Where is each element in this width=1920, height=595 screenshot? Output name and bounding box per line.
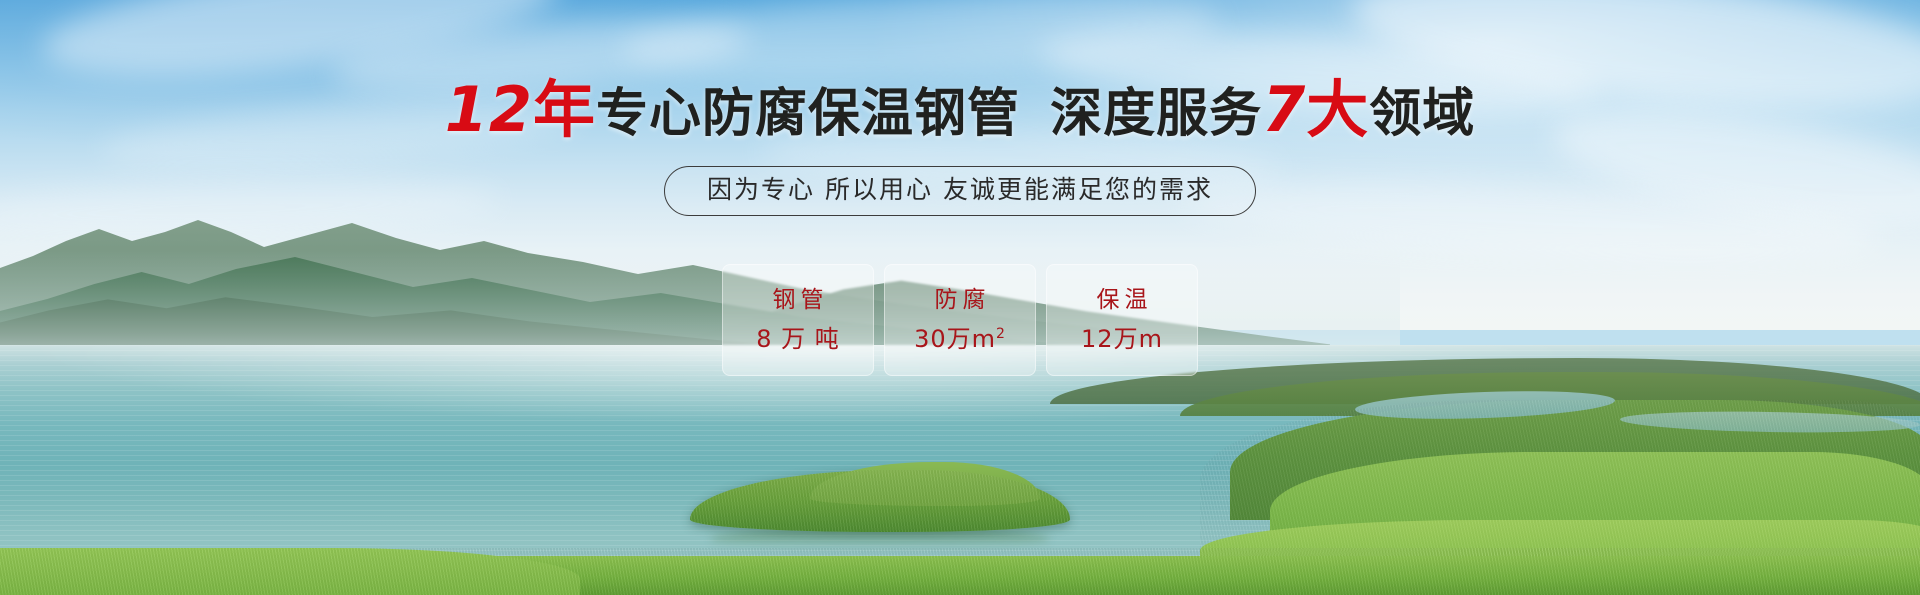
stat-card-label: 钢管 bbox=[768, 287, 829, 313]
stat-card-label: 防腐 bbox=[930, 287, 991, 313]
foreground-grass-texture bbox=[0, 548, 1920, 595]
stat-value-text: 30万m bbox=[914, 325, 996, 353]
stat-card-steel-pipe: 钢管 8 万 吨 bbox=[722, 264, 874, 376]
stat-value-superscript: 2 bbox=[996, 326, 1006, 342]
stat-card-label: 保温 bbox=[1092, 287, 1153, 313]
headline-tail-text: 领域 bbox=[1369, 84, 1475, 144]
stat-card-group: 钢管 8 万 吨 防腐 30万m2 保温 12万m bbox=[0, 264, 1920, 376]
headline-segment-two: 深度服务 bbox=[1050, 84, 1262, 144]
headline-lead-number: 12 bbox=[445, 73, 533, 146]
stat-card-value: 8 万 吨 bbox=[756, 325, 840, 353]
subtitle-container: 因为专心 所以用心 友诚更能满足您的需求 bbox=[0, 166, 1920, 216]
stat-card-value: 12万m bbox=[1081, 325, 1163, 353]
hero-banner: 12年专心防腐保温钢管深度服务7大领域 因为专心 所以用心 友诚更能满足您的需求… bbox=[0, 0, 1920, 595]
stat-card-anticorrosion: 防腐 30万m2 bbox=[884, 264, 1036, 376]
banner-headline: 12年专心防腐保温钢管深度服务7大领域 bbox=[0, 82, 1920, 142]
headline-middle-text: 专心防腐保温钢管 bbox=[596, 84, 1020, 144]
stat-card-insulation: 保温 12万m bbox=[1046, 264, 1198, 376]
subtitle-pill: 因为专心 所以用心 友诚更能满足您的需求 bbox=[664, 166, 1256, 216]
stat-card-value: 30万m2 bbox=[914, 325, 1006, 353]
headline-accent-unit: 大 bbox=[1306, 73, 1369, 146]
headline-lead-unit: 年 bbox=[533, 73, 596, 146]
headline-accent-number: 7 bbox=[1262, 73, 1306, 146]
stat-value-text: 12万m bbox=[1081, 325, 1163, 353]
stat-value-text: 8 万 吨 bbox=[756, 325, 840, 353]
